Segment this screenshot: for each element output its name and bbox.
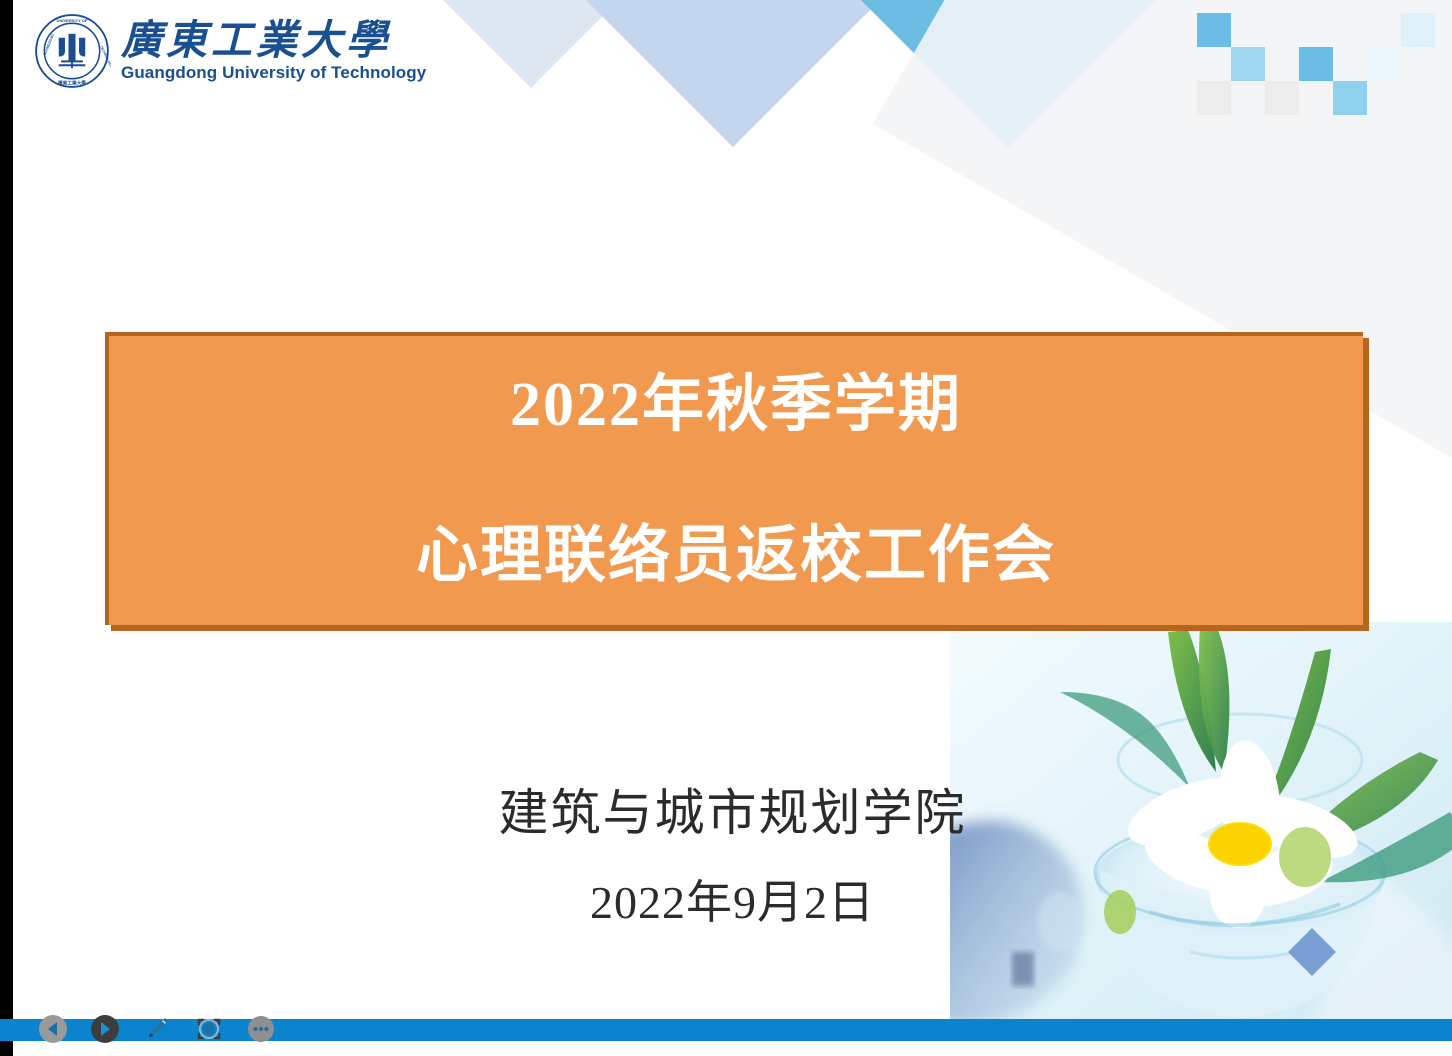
svg-text:廣東工業大學: 廣東工業大學 — [57, 80, 86, 87]
mosaic-squares-decor — [1184, 0, 1452, 130]
slide-title-line-2: 心理联络员返校工作会 — [416, 522, 1056, 590]
previous-slide-button[interactable] — [38, 1014, 68, 1044]
slide-title-line-1: 2022年秋季学期 — [510, 371, 962, 439]
mosaic-square-3 — [1197, 81, 1231, 115]
mosaic-square-6 — [1333, 81, 1367, 115]
slideshow-player-bar — [0, 1010, 1452, 1056]
player-controls — [38, 1014, 276, 1044]
pen-tool-button[interactable] — [142, 1014, 172, 1044]
left-gutter — [0, 0, 13, 1056]
university-logo-text: 廣東工業大學 Guangdong University of Technolog… — [121, 19, 426, 83]
laser-pointer-button[interactable] — [194, 1014, 224, 1044]
mosaic-square-8 — [1401, 13, 1435, 47]
university-name-en: Guangdong University of Technology — [121, 63, 426, 83]
mosaic-square-1 — [1197, 13, 1231, 47]
mosaic-square-7 — [1367, 47, 1401, 81]
slide-canvas: UNIVERSITY OF 廣東工業大學 GUANGDONG TECHNOLOG… — [13, 0, 1452, 1056]
flower-photo — [950, 622, 1452, 1032]
mosaic-square-2 — [1231, 47, 1265, 81]
gdut-seal-icon: UNIVERSITY OF 廣東工業大學 GUANGDONG TECHNOLOG… — [33, 12, 111, 90]
slide-title-box: 2022年秋季学期 心理联络员返校工作会 — [105, 332, 1363, 625]
svg-text:UNIVERSITY OF: UNIVERSITY OF — [57, 18, 88, 23]
university-name-cn: 廣東工業大學 — [121, 19, 426, 62]
more-options-button[interactable] — [246, 1014, 276, 1044]
mosaic-square-4 — [1265, 81, 1299, 115]
university-logo: UNIVERSITY OF 廣東工業大學 GUANGDONG TECHNOLOG… — [33, 12, 426, 90]
presentation-slide: UNIVERSITY OF 廣東工業大學 GUANGDONG TECHNOLOG… — [0, 0, 1452, 1056]
mosaic-square-5 — [1299, 47, 1333, 81]
next-slide-button[interactable] — [90, 1014, 120, 1044]
